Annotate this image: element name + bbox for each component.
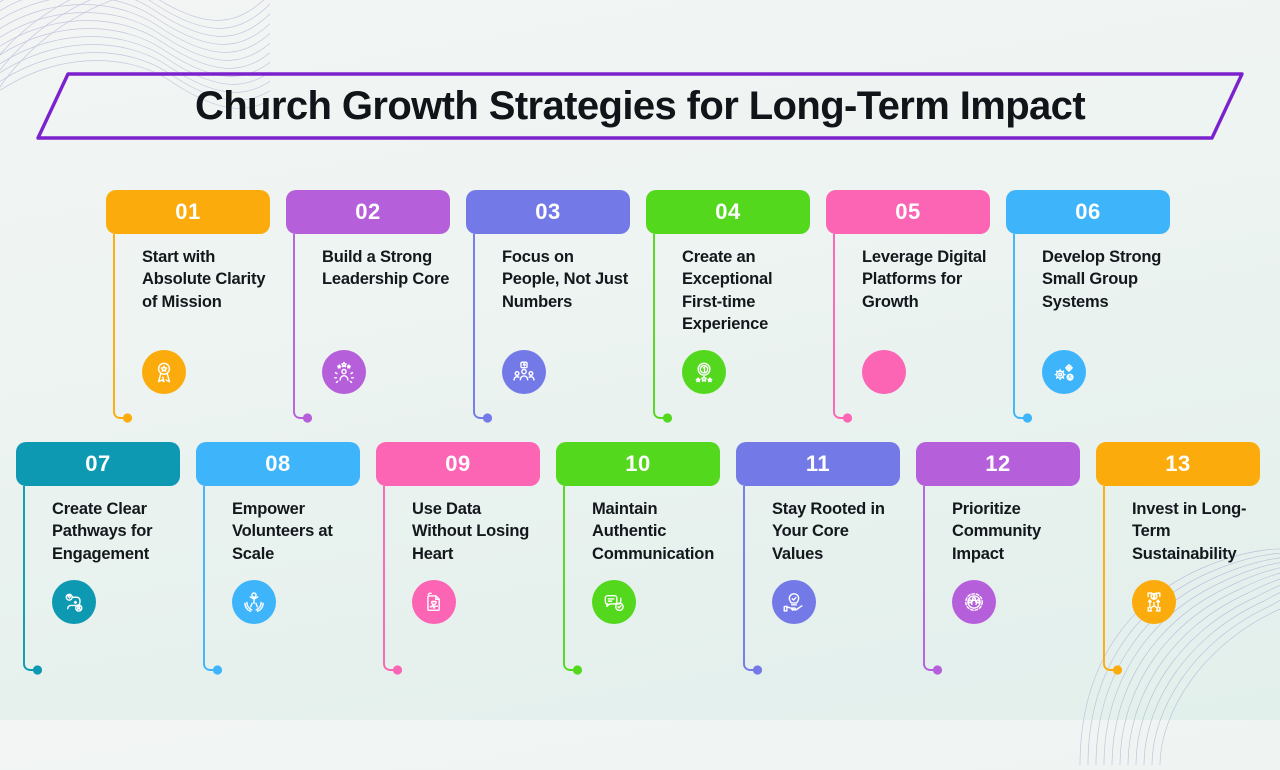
- values-hand-icon: [772, 580, 816, 624]
- step-number-badge: 10: [556, 442, 720, 486]
- connector-line: [736, 486, 772, 676]
- gears-network-icon: [1042, 350, 1086, 394]
- strategy-title: Create Clear Pathways for Engagement: [52, 498, 180, 565]
- strategy-card-06[interactable]: 06Develop Strong Small Group Systems: [1006, 190, 1170, 336]
- connector-line: [916, 486, 952, 676]
- pathway-users-icon: [52, 580, 96, 624]
- strategy-title: Maintain Authentic Communication: [592, 498, 720, 565]
- step-number: 02: [355, 199, 380, 225]
- strategy-card-07[interactable]: 07Create Clear Pathways for Engagement: [16, 442, 180, 565]
- step-number-badge: 06: [1006, 190, 1170, 234]
- connector-line: [466, 234, 502, 424]
- strategy-title: Start with Absolute Clarity of Mission: [142, 246, 270, 313]
- first-place-badge-icon: [682, 350, 726, 394]
- strategy-card-04[interactable]: 04Create an Exceptional First-time Exper…: [646, 190, 810, 336]
- strategy-card-01[interactable]: 01Start with Absolute Clarity of Mission: [106, 190, 270, 336]
- step-number-badge: 02: [286, 190, 450, 234]
- step-number-badge: 03: [466, 190, 630, 234]
- step-number: 03: [535, 199, 560, 225]
- strategy-card-02[interactable]: 02Build a Strong Leadership Core: [286, 190, 450, 336]
- money-growth-icon: [1132, 580, 1176, 624]
- step-number: 07: [85, 451, 110, 477]
- strategy-card-10[interactable]: 10Maintain Authentic Communication: [556, 442, 720, 565]
- step-number: 10: [625, 451, 650, 477]
- step-number: 12: [985, 451, 1010, 477]
- strategy-title: Empower Volunteers at Scale: [232, 498, 360, 565]
- strategy-card-05[interactable]: 05Leverage Digital Platforms for Growth: [826, 190, 990, 336]
- connector-line: [196, 486, 232, 676]
- volunteer-hands-icon: [232, 580, 276, 624]
- strategy-title: Create an Exceptional First-time Experie…: [682, 246, 810, 336]
- step-number: 05: [895, 199, 920, 225]
- heart-chart-document-icon: [412, 580, 456, 624]
- strategy-card-13[interactable]: 13Invest in Long-Term Sustainability: [1096, 442, 1260, 565]
- strategy-card-09[interactable]: 09Use Data Without Losing Heart: [376, 442, 540, 565]
- connector-line: [1006, 234, 1042, 424]
- title-banner: Church Growth Strategies for Long-Term I…: [32, 72, 1248, 140]
- strategy-card-08[interactable]: 08Empower Volunteers at Scale: [196, 442, 360, 565]
- connector-line: [376, 486, 412, 676]
- connector-line: [556, 486, 592, 676]
- community-network-icon: [952, 580, 996, 624]
- step-number-badge: 09: [376, 442, 540, 486]
- blank-icon: [862, 350, 906, 394]
- leadership-star-icon: [322, 350, 366, 394]
- connector-line: [16, 486, 52, 676]
- step-number-badge: 01: [106, 190, 270, 234]
- connector-line: [286, 234, 322, 424]
- chat-check-icon: [592, 580, 636, 624]
- strategy-title: Use Data Without Losing Heart: [412, 498, 540, 565]
- step-number: 13: [1165, 451, 1190, 477]
- strategy-title: Stay Rooted in Your Core Values: [772, 498, 900, 565]
- step-number: 08: [265, 451, 290, 477]
- step-number: 06: [1075, 199, 1100, 225]
- connector-line: [646, 234, 682, 424]
- step-number: 01: [175, 199, 200, 225]
- strategy-title: Invest in Long-Term Sustainability: [1132, 498, 1260, 565]
- strategy-card-12[interactable]: 12Prioritize Community Impact: [916, 442, 1080, 565]
- step-number-badge: 04: [646, 190, 810, 234]
- strategy-row-2: 07Create Clear Pathways for Engagement08…: [16, 442, 1264, 565]
- step-number-badge: 05: [826, 190, 990, 234]
- step-number: 11: [806, 451, 830, 477]
- step-number-badge: 12: [916, 442, 1080, 486]
- step-number-badge: 11: [736, 442, 900, 486]
- people-group-icon: [502, 350, 546, 394]
- strategy-title: Leverage Digital Platforms for Growth: [862, 246, 990, 313]
- connector-line: [1096, 486, 1132, 676]
- strategy-title: Develop Strong Small Group Systems: [1042, 246, 1170, 313]
- strategy-title: Focus on People, Not Just Numbers: [502, 246, 630, 313]
- page-title: Church Growth Strategies for Long-Term I…: [32, 72, 1248, 140]
- step-number-badge: 13: [1096, 442, 1260, 486]
- connector-line: [826, 234, 862, 424]
- award-medal-icon: [142, 350, 186, 394]
- step-number-badge: 07: [16, 442, 180, 486]
- strategy-card-11[interactable]: 11Stay Rooted in Your Core Values: [736, 442, 900, 565]
- connector-line: [106, 234, 142, 424]
- decorative-swirl-bottom-right: [1050, 535, 1280, 770]
- step-number: 09: [445, 451, 470, 477]
- strategy-title: Build a Strong Leadership Core: [322, 246, 450, 291]
- strategy-row-1: 01Start with Absolute Clarity of Mission…: [106, 190, 1174, 336]
- strategy-card-03[interactable]: 03Focus on People, Not Just Numbers: [466, 190, 630, 336]
- step-number: 04: [715, 199, 740, 225]
- strategy-title: Prioritize Community Impact: [952, 498, 1080, 565]
- step-number-badge: 08: [196, 442, 360, 486]
